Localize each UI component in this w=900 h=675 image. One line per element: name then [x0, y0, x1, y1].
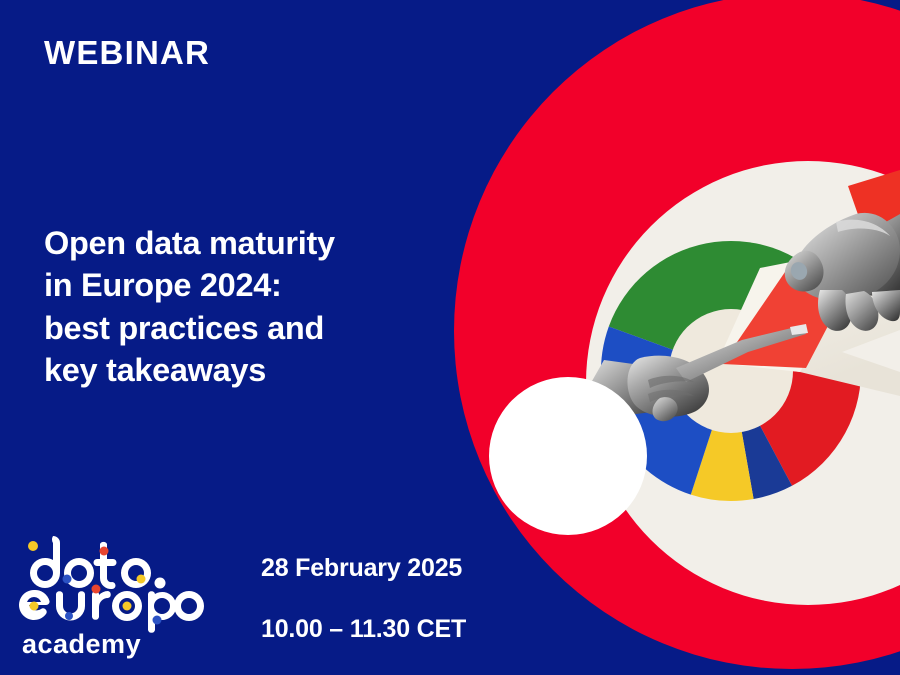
- event-datetime: 28 February 2025 10.00 – 11.30 CET: [261, 556, 466, 642]
- logo-dot-yellow-2: [137, 575, 146, 584]
- logo-word-academy: academy: [22, 629, 141, 659]
- logo-dot-yellow: [28, 541, 38, 551]
- logo-dot-red: [100, 547, 109, 556]
- event-date: 28 February 2025: [261, 556, 466, 581]
- banner-canvas: WEBINAR Open data maturity in Europe 202…: [0, 0, 900, 675]
- logo-dot-yellow-4: [123, 602, 132, 611]
- logo-dot-red-2: [92, 585, 101, 594]
- logo-dot-blue-2: [65, 612, 73, 620]
- logo-word-europa: [19, 590, 204, 633]
- event-time: 10.00 – 11.30 CET: [261, 617, 466, 642]
- page-title: Open data maturity in Europe 2024: best …: [44, 222, 335, 391]
- logo-dot-yellow-3: [30, 602, 39, 611]
- content-layer: WEBINAR Open data maturity in Europe 202…: [0, 0, 900, 675]
- logo-dot-blue-3: [153, 616, 162, 625]
- data-europa-academy-logo[interactable]: academy: [12, 530, 227, 660]
- logo-word-data: [30, 536, 166, 589]
- kicker-label: WEBINAR: [44, 36, 210, 69]
- logo-dot-blue: [63, 575, 72, 584]
